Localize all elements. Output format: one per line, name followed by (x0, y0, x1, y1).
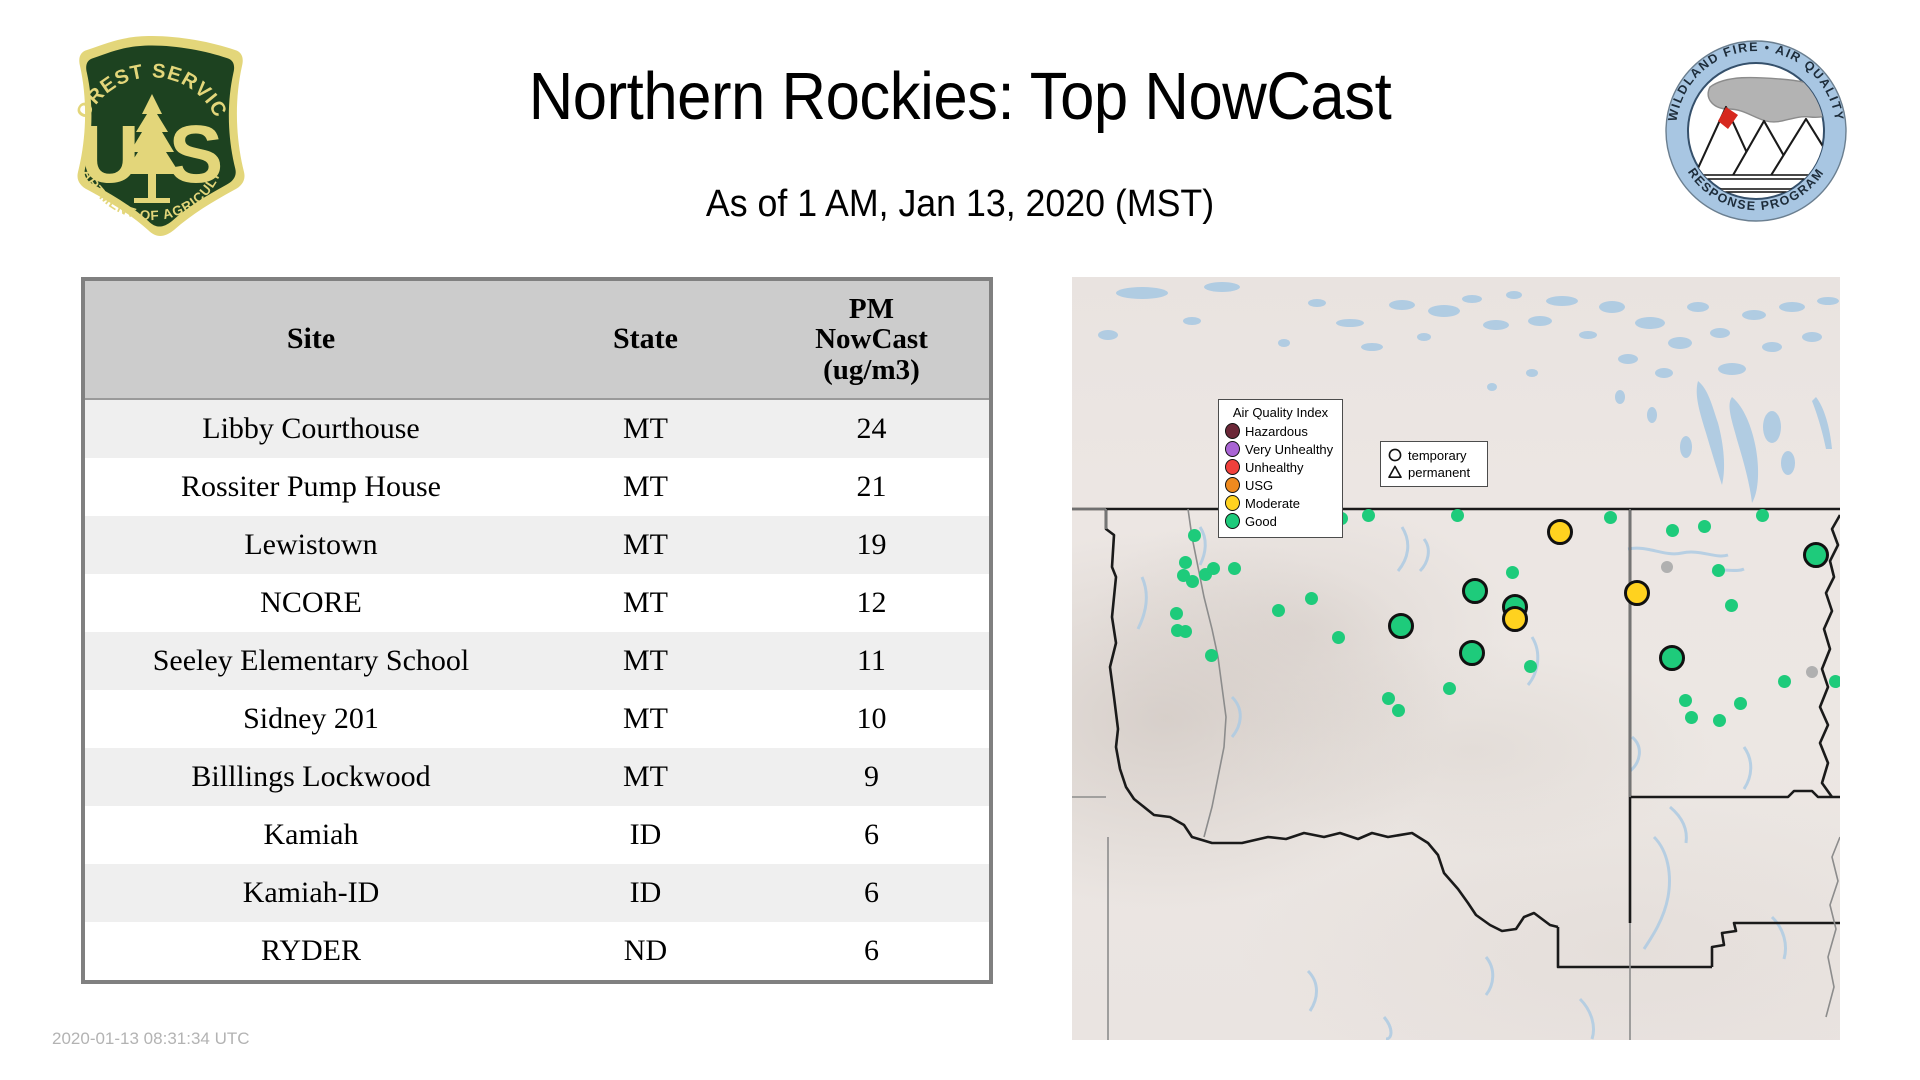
cell-state: ND (537, 922, 754, 980)
table-row: Libby CourthouseMT24 (85, 399, 989, 458)
map-monitor-dot[interactable] (1170, 607, 1183, 620)
cell-state: MT (537, 574, 754, 632)
aqi-legend-label: Hazardous (1245, 425, 1308, 438)
map-highlighted-site-marker[interactable] (1388, 613, 1414, 639)
map-highlighted-site-marker[interactable] (1547, 519, 1573, 545)
cell-site: Kamiah (85, 806, 537, 864)
pm-head-line-1: PM (754, 294, 989, 324)
map-monitor-dot[interactable] (1506, 566, 1519, 579)
aqi-legend-swatch (1225, 459, 1240, 475)
aqi-legend-label: Very Unhealthy (1245, 443, 1333, 456)
map-highlighted-site-marker[interactable] (1502, 606, 1528, 632)
secondary-borders (1072, 509, 1840, 1040)
aqi-legend-label: Good (1245, 515, 1277, 528)
map-highlighted-site-marker[interactable] (1459, 640, 1485, 666)
aqi-legend-label: Unhealthy (1245, 461, 1304, 474)
cell-pm-nowcast: 12 (754, 574, 989, 632)
table-row: KamiahID6 (85, 806, 989, 864)
cell-pm-nowcast: 19 (754, 516, 989, 574)
aqi-legend-row: Unhealthy (1225, 459, 1336, 475)
map-vector-layer (1072, 277, 1840, 1040)
page-subtitle: As of 1 AM, Jan 13, 2020 (MST) (58, 183, 1863, 226)
aqi-legend-label: Moderate (1245, 497, 1300, 510)
site-type-legend: temporary permanent (1380, 441, 1488, 487)
cell-pm-nowcast: 6 (754, 864, 989, 922)
cell-pm-nowcast: 6 (754, 922, 989, 980)
cell-pm-nowcast: 21 (754, 458, 989, 516)
cell-site: RYDER (85, 922, 537, 980)
cell-site: Rossiter Pump House (85, 458, 537, 516)
cell-site: Lewistown (85, 516, 537, 574)
table-row: NCOREMT12 (85, 574, 989, 632)
pm-head-line-3: (ug/m3) (754, 355, 989, 385)
pm-head-line-2: NowCast (754, 324, 989, 354)
table-row: RYDERND6 (85, 922, 989, 980)
circle-outline-icon (1387, 447, 1403, 463)
aqi-legend-row: Good (1225, 513, 1336, 529)
aqi-legend-row: USG (1225, 477, 1336, 493)
aqi-legend-row: Moderate (1225, 495, 1336, 511)
cell-pm-nowcast: 6 (754, 806, 989, 864)
table-header-row: Site State PM NowCast (ug/m3) (85, 281, 989, 399)
map-highlighted-site-marker[interactable] (1803, 542, 1829, 568)
cell-state: MT (537, 748, 754, 806)
aqi-legend-title: Air Quality Index (1225, 405, 1336, 420)
map-monitor-dot[interactable] (1392, 704, 1405, 717)
map-monitor-dot[interactable] (1228, 562, 1241, 575)
cell-pm-nowcast: 9 (754, 748, 989, 806)
aqi-legend-swatch (1225, 441, 1240, 457)
map-monitor-dot[interactable] (1451, 509, 1464, 522)
map-monitor-dot[interactable] (1332, 631, 1345, 644)
map-monitor-dot[interactable] (1698, 520, 1711, 533)
map-monitor-dot[interactable] (1179, 556, 1192, 569)
cell-site: Kamiah-ID (85, 864, 537, 922)
table-row: Seeley Elementary SchoolMT11 (85, 632, 989, 690)
map-monitor-dot[interactable] (1604, 511, 1617, 524)
aqi-legend-swatch (1225, 477, 1240, 493)
top-nowcast-table: Site State PM NowCast (ug/m3) Libby Cour… (81, 277, 993, 984)
table-row: Sidney 201MT10 (85, 690, 989, 748)
table-row: Rossiter Pump HouseMT21 (85, 458, 989, 516)
map-monitor-dot[interactable] (1685, 711, 1698, 724)
map-monitor-dot[interactable] (1305, 592, 1318, 605)
table-row: LewistownMT19 (85, 516, 989, 574)
site-type-temporary-label: temporary (1408, 449, 1467, 462)
table-row: Billlings LockwoodMT9 (85, 748, 989, 806)
cell-state: MT (537, 458, 754, 516)
aqi-legend-swatch (1225, 423, 1240, 439)
cell-pm-nowcast: 24 (754, 399, 989, 458)
column-header-site: Site (85, 281, 537, 399)
cell-state: MT (537, 516, 754, 574)
rivers (1138, 527, 1786, 1039)
map-monitor-dot[interactable] (1205, 649, 1218, 662)
map-highlighted-site-marker[interactable] (1624, 580, 1650, 606)
map-monitor-dot[interactable] (1734, 697, 1747, 710)
page-title: Northern Rockies: Top NowCast (77, 58, 1843, 135)
site-type-temporary: temporary (1387, 447, 1481, 463)
aqi-legend: Air Quality Index HazardousVery Unhealth… (1218, 399, 1343, 538)
map-monitor-dot[interactable] (1829, 675, 1841, 688)
aqi-legend-label: USG (1245, 479, 1273, 492)
air-quality-map[interactable] (1072, 277, 1840, 1040)
column-header-state: State (537, 281, 754, 399)
map-monitor-dot[interactable] (1712, 564, 1725, 577)
map-monitor-dot[interactable] (1756, 509, 1769, 522)
map-monitor-dot[interactable] (1207, 562, 1220, 575)
map-monitor-dot[interactable] (1272, 604, 1285, 617)
map-monitor-dot[interactable] (1725, 599, 1738, 612)
cell-site: Sidney 201 (85, 690, 537, 748)
cell-state: MT (537, 690, 754, 748)
map-highlighted-site-marker[interactable] (1462, 578, 1488, 604)
map-highlighted-site-marker[interactable] (1659, 645, 1685, 671)
map-monitor-dot[interactable] (1382, 692, 1395, 705)
map-monitor-dot[interactable] (1188, 529, 1201, 542)
map-monitor-dot[interactable] (1778, 675, 1791, 688)
site-type-permanent: permanent (1387, 464, 1481, 480)
aqi-legend-swatch (1225, 495, 1240, 511)
cell-site: Billlings Lockwood (85, 748, 537, 806)
cell-state: ID (537, 864, 754, 922)
table-row: Kamiah-IDID6 (85, 864, 989, 922)
table-body: Libby CourthouseMT24Rossiter Pump HouseM… (85, 399, 989, 980)
map-monitor-dot[interactable] (1186, 575, 1199, 588)
aqi-legend-row: Very Unhealthy (1225, 441, 1336, 457)
cell-pm-nowcast: 11 (754, 632, 989, 690)
column-header-pm-nowcast: PM NowCast (ug/m3) (754, 281, 989, 399)
triangle-outline-icon (1387, 464, 1403, 480)
cell-pm-nowcast: 10 (754, 690, 989, 748)
cell-site: Seeley Elementary School (85, 632, 537, 690)
aqi-legend-row: Hazardous (1225, 423, 1336, 439)
map-monitor-dot[interactable] (1666, 524, 1679, 537)
cell-state: ID (537, 806, 754, 864)
cell-site: NCORE (85, 574, 537, 632)
map-monitor-dot[interactable] (1179, 625, 1192, 638)
map-monitor-dot[interactable] (1524, 660, 1537, 673)
site-type-permanent-label: permanent (1408, 466, 1470, 479)
aqi-legend-rows: HazardousVery UnhealthyUnhealthyUSGModer… (1225, 423, 1336, 529)
map-monitor-dot[interactable] (1679, 694, 1692, 707)
cell-site: Libby Courthouse (85, 399, 537, 458)
map-monitor-dot[interactable] (1713, 714, 1726, 727)
aqi-legend-swatch (1225, 513, 1240, 529)
map-monitor-dot[interactable] (1443, 682, 1456, 695)
cell-state: MT (537, 399, 754, 458)
footer-timestamp: 2020-01-13 08:31:34 UTC (52, 1029, 250, 1049)
map-monitor-dot[interactable] (1362, 509, 1375, 522)
cell-state: MT (537, 632, 754, 690)
